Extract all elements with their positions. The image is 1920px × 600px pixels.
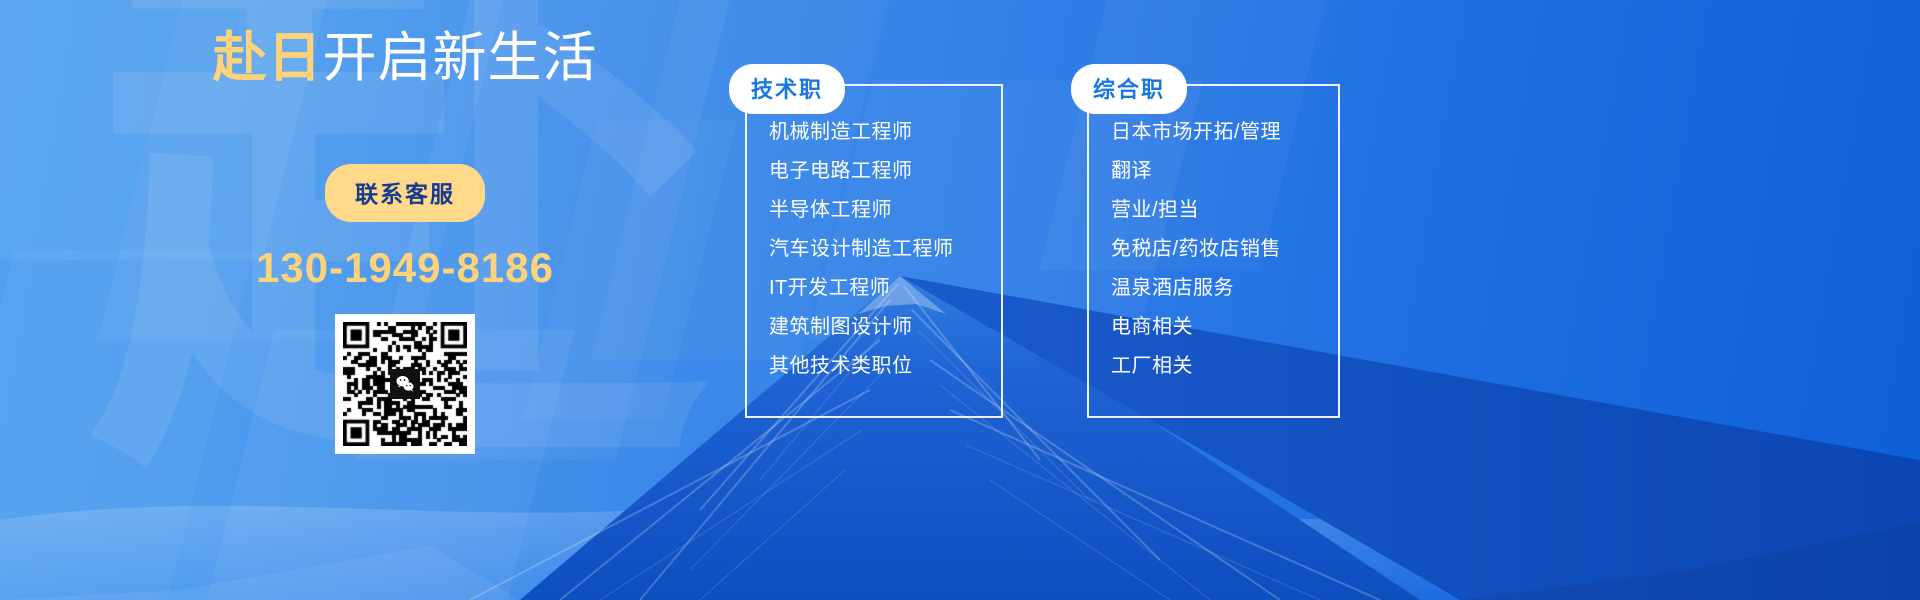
headline-plain: 开启新生活 — [323, 28, 598, 88]
category-label-general: 综合职 — [1071, 64, 1187, 114]
list-item[interactable]: 翻译 — [1111, 161, 1338, 200]
list-item[interactable]: 温泉酒店服务 — [1111, 278, 1338, 317]
list-item[interactable]: 电商相关 — [1111, 317, 1338, 356]
list-item[interactable]: 日本市场开拓/管理 — [1111, 122, 1338, 161]
contact-support-button[interactable]: 联系客服 — [325, 164, 485, 222]
list-item[interactable]: 汽车设计制造工程师 — [769, 239, 1001, 278]
list-item[interactable]: IT开发工程师 — [769, 278, 1001, 317]
list-item[interactable]: 工厂相关 — [1111, 356, 1338, 395]
page-title: 赴日开启新生活 — [170, 28, 640, 88]
category-box-technical: 技术职 机械制造工程师 电子电路工程师 半导体工程师 汽车设计制造工程师 IT开… — [745, 84, 1003, 418]
job-list-general: 日本市场开拓/管理 翻译 营业/担当 免税店/药妆店销售 温泉酒店服务 电商相关… — [1089, 86, 1338, 395]
left-content-block: 赴日开启新生活 联系客服 130-1949-8186 — [170, 28, 640, 454]
wechat-qr-code[interactable] — [335, 314, 475, 454]
category-box-general: 综合职 日本市场开拓/管理 翻译 营业/担当 免税店/药妆店销售 温泉酒店服务 … — [1087, 84, 1340, 418]
category-label-technical: 技术职 — [729, 64, 845, 114]
wechat-icon — [390, 369, 420, 399]
list-item[interactable]: 机械制造工程师 — [769, 122, 1001, 161]
list-item[interactable]: 营业/担当 — [1111, 200, 1338, 239]
list-item[interactable]: 建筑制图设计师 — [769, 317, 1001, 356]
job-list-technical: 机械制造工程师 电子电路工程师 半导体工程师 汽车设计制造工程师 IT开发工程师… — [747, 86, 1001, 395]
list-item[interactable]: 其他技术类职位 — [769, 356, 1001, 395]
phone-number: 130-1949-8186 — [170, 244, 640, 292]
list-item[interactable]: 免税店/药妆店销售 — [1111, 239, 1338, 278]
headline-accent: 赴日 — [213, 28, 323, 88]
list-item[interactable]: 电子电路工程师 — [769, 161, 1001, 200]
list-item[interactable]: 半导体工程师 — [769, 200, 1001, 239]
recruitment-banner: 赴 — [0, 0, 1920, 600]
